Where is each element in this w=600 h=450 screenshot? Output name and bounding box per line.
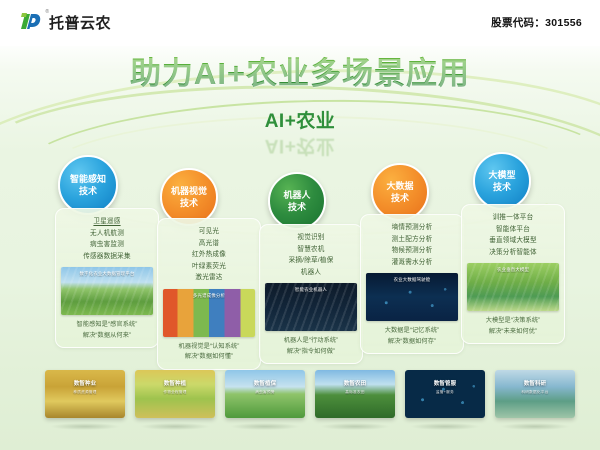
feature-list: 视觉识别 智慧农机 采摘/除草/植保 机器人	[264, 232, 358, 278]
feature-item: 机器人	[264, 267, 358, 279]
thumbnail-caption: 多光谱成像分析	[163, 293, 255, 299]
bubble-label-line1: 大模型	[488, 169, 515, 181]
thumbnail-caption: 农业垂直大模型	[467, 267, 559, 273]
feature-list: 训推一体平台 智能体平台 垂直领域大模型 决策分析智能体	[466, 212, 560, 258]
header-bar: ® 托普云农 股票代码：301556	[0, 0, 600, 46]
brand-logo[interactable]: ® 托普云农	[18, 10, 111, 35]
feature-item: 叶绿素荧光	[162, 261, 256, 273]
card-caption: 大模型是“决策系统” 解决“未来如何优”	[486, 316, 541, 337]
feature-item: 可见光	[162, 226, 256, 238]
card-thumbnail: 智能农业机器人	[265, 283, 357, 331]
node-bubble-large-model[interactable]: 大模型 技术	[473, 152, 531, 210]
card-caption: 机器人是“行动系统” 解决“指令如何做”	[284, 336, 339, 357]
strip-label: 数智种植	[135, 379, 215, 387]
bubble-label-line2: 技术	[180, 197, 198, 209]
strip-item-farmland[interactable]: 数智农田 高标准农田	[315, 370, 395, 418]
stock-code: 股票代码：301556	[491, 15, 582, 30]
caption-line1: 机器人是“行动系统”	[284, 336, 339, 347]
caption-line2: 解决“数据从何来”	[77, 331, 138, 342]
node-card-intelligent-sensing[interactable]: 卫星遥感 无人机航测 病虫害监测 传感器数据采集 数字化农业大数据管理平台 智能…	[55, 208, 159, 348]
strip-item-seed-industry[interactable]: 数智种业 种质资源管理	[45, 370, 125, 418]
strip-item-plant-protection[interactable]: 数智植保 病虫害预警	[225, 370, 305, 418]
feature-item: 无人机航测	[60, 228, 154, 240]
strip-label: 数智科研	[495, 379, 575, 387]
strip-sublabel: 高标准农田	[315, 390, 395, 395]
strip-shadow	[410, 423, 480, 430]
feature-item: 智慧农机	[264, 244, 358, 256]
thumbnail-caption: 智能农业机器人	[265, 287, 357, 293]
bubble-label-line1: 大数据	[386, 180, 413, 192]
tp-logo-icon: ®	[18, 10, 44, 35]
card-thumbnail: 农业垂直大模型	[467, 263, 559, 311]
feature-item: 病虫害监测	[60, 239, 154, 251]
strip-item-research[interactable]: 数智科研 科研数据化平台	[495, 370, 575, 418]
strip-item-planting[interactable]: 数智种植 作物全程管理	[135, 370, 215, 418]
card-caption: 机器视觉是“认知系统” 解决“数据如何懂”	[179, 342, 240, 363]
caption-line1: 大模型是“决策系统”	[486, 316, 541, 327]
bubble-label-line1: 智能感知	[70, 173, 106, 185]
feature-item: 墒情预测分析	[365, 222, 459, 234]
node-bubble-big-data[interactable]: 大数据 技术	[371, 163, 429, 221]
node-card-big-data[interactable]: 墒情预测分析 测土配方分析 物候预测分析 灌溉需水分析 农业大数据驾驶舱 大数据…	[360, 214, 464, 354]
card-caption: 智能感知是“感官系统” 解决“数据从何来”	[77, 320, 138, 341]
bubble-label-line2: 技术	[79, 185, 97, 197]
caption-line1: 智能感知是“感官系统”	[77, 320, 138, 331]
caption-line2: 解决“指令如何做”	[284, 347, 339, 358]
node-bubble-intelligent-sensing[interactable]: 智能感知 技术	[58, 155, 118, 215]
strip-sublabel: 监管+服务	[405, 390, 485, 395]
caption-line2: 解决“数据如何存”	[385, 337, 440, 348]
card-thumbnail: 数字化农业大数据管理平台	[61, 267, 153, 315]
feature-item: 采摘/除草/植保	[264, 255, 358, 267]
feature-item: 训推一体平台	[466, 212, 560, 224]
caption-line1: 大数据是“记忆系统”	[385, 326, 440, 337]
brand-name: 托普云农	[49, 12, 111, 33]
bubble-label-line2: 技术	[493, 181, 511, 193]
strip-sublabel: 种质资源管理	[45, 390, 125, 395]
strip-label: 数智农田	[315, 379, 395, 387]
strip-label: 数智种业	[45, 379, 125, 387]
strip-shadow	[50, 423, 120, 430]
bubble-label-line1: 机器视觉	[171, 185, 207, 197]
caption-line2: 解决“数据如何懂”	[179, 352, 240, 363]
card-caption: 大数据是“记忆系统” 解决“数据如何存”	[385, 326, 440, 347]
poster-root: ® 托普云农 股票代码：301556 助力AI+农业多场景应用 AI+农业 AI…	[0, 0, 600, 450]
strip-label: 数智管服	[405, 379, 485, 387]
feature-item: 传感器数据采集	[60, 251, 154, 263]
feature-item: 测土配方分析	[365, 234, 459, 246]
feature-item: 智能体平台	[466, 224, 560, 236]
scenario-strip: 数智种业 种质资源管理 数智种植 作物全程管理 数智植保 病虫害预警 数智农田 …	[0, 370, 600, 434]
feature-item: 决策分析智能体	[466, 247, 560, 259]
hub-label: AI+农业	[0, 106, 600, 133]
registered-mark: ®	[45, 9, 49, 15]
bubble-label-line2: 技术	[288, 201, 306, 213]
bubble-label-line2: 技术	[391, 192, 409, 204]
feature-item: 物候预测分析	[365, 245, 459, 257]
node-card-machine-vision[interactable]: 可见光 高光谱 红外热成像 叶绿素荧光 激光雷达 多光谱成像分析 机器视觉是“认…	[157, 218, 261, 370]
strip-label: 数智植保	[225, 379, 305, 387]
strip-sublabel: 病虫害预警	[225, 390, 305, 395]
bubble-label-line1: 机器人	[283, 189, 310, 201]
strip-sublabel: 科研数据化平台	[495, 390, 575, 395]
strip-sublabel: 作物全程管理	[135, 390, 215, 395]
strip-shadow	[230, 423, 300, 430]
strip-shadow	[500, 423, 570, 430]
node-card-robotics[interactable]: 视觉识别 智慧农机 采摘/除草/植保 机器人 智能农业机器人 机器人是“行动系统…	[259, 224, 363, 364]
feature-item: 高光谱	[162, 238, 256, 250]
caption-line2: 解决“未来如何优”	[486, 327, 541, 338]
caption-line1: 机器视觉是“认知系统”	[179, 342, 240, 353]
strip-shadow	[140, 423, 210, 430]
node-card-large-model[interactable]: 训推一体平台 智能体平台 垂直领域大模型 决策分析智能体 农业垂直大模型 大模型…	[461, 204, 565, 344]
feature-item: 红外热成像	[162, 249, 256, 261]
feature-item: 激光雷达	[162, 272, 256, 284]
feature-list: 卫星遥感 无人机航测 病虫害监测 传感器数据采集	[60, 216, 154, 262]
feature-list: 可见光 高光谱 红外热成像 叶绿素荧光 激光雷达	[162, 226, 256, 284]
feature-item: 视觉识别	[264, 232, 358, 244]
thumbnail-caption: 数字化农业大数据管理平台	[61, 271, 153, 277]
card-thumbnail: 农业大数据驾驶舱	[366, 273, 458, 321]
feature-item: 垂直领域大模型	[466, 235, 560, 247]
strip-item-management-service[interactable]: 数智管服 监管+服务	[405, 370, 485, 418]
thumbnail-caption: 农业大数据驾驶舱	[366, 277, 458, 283]
page-title: 助力AI+农业多场景应用	[0, 48, 600, 93]
strip-shadow	[320, 423, 390, 430]
feature-item: 灌溉需水分析	[365, 257, 459, 269]
feature-list: 墒情预测分析 测土配方分析 物候预测分析 灌溉需水分析	[365, 222, 459, 268]
feature-item: 卫星遥感	[60, 216, 154, 228]
card-thumbnail: 多光谱成像分析	[163, 289, 255, 337]
node-bubble-robotics[interactable]: 机器人 技术	[268, 172, 326, 230]
